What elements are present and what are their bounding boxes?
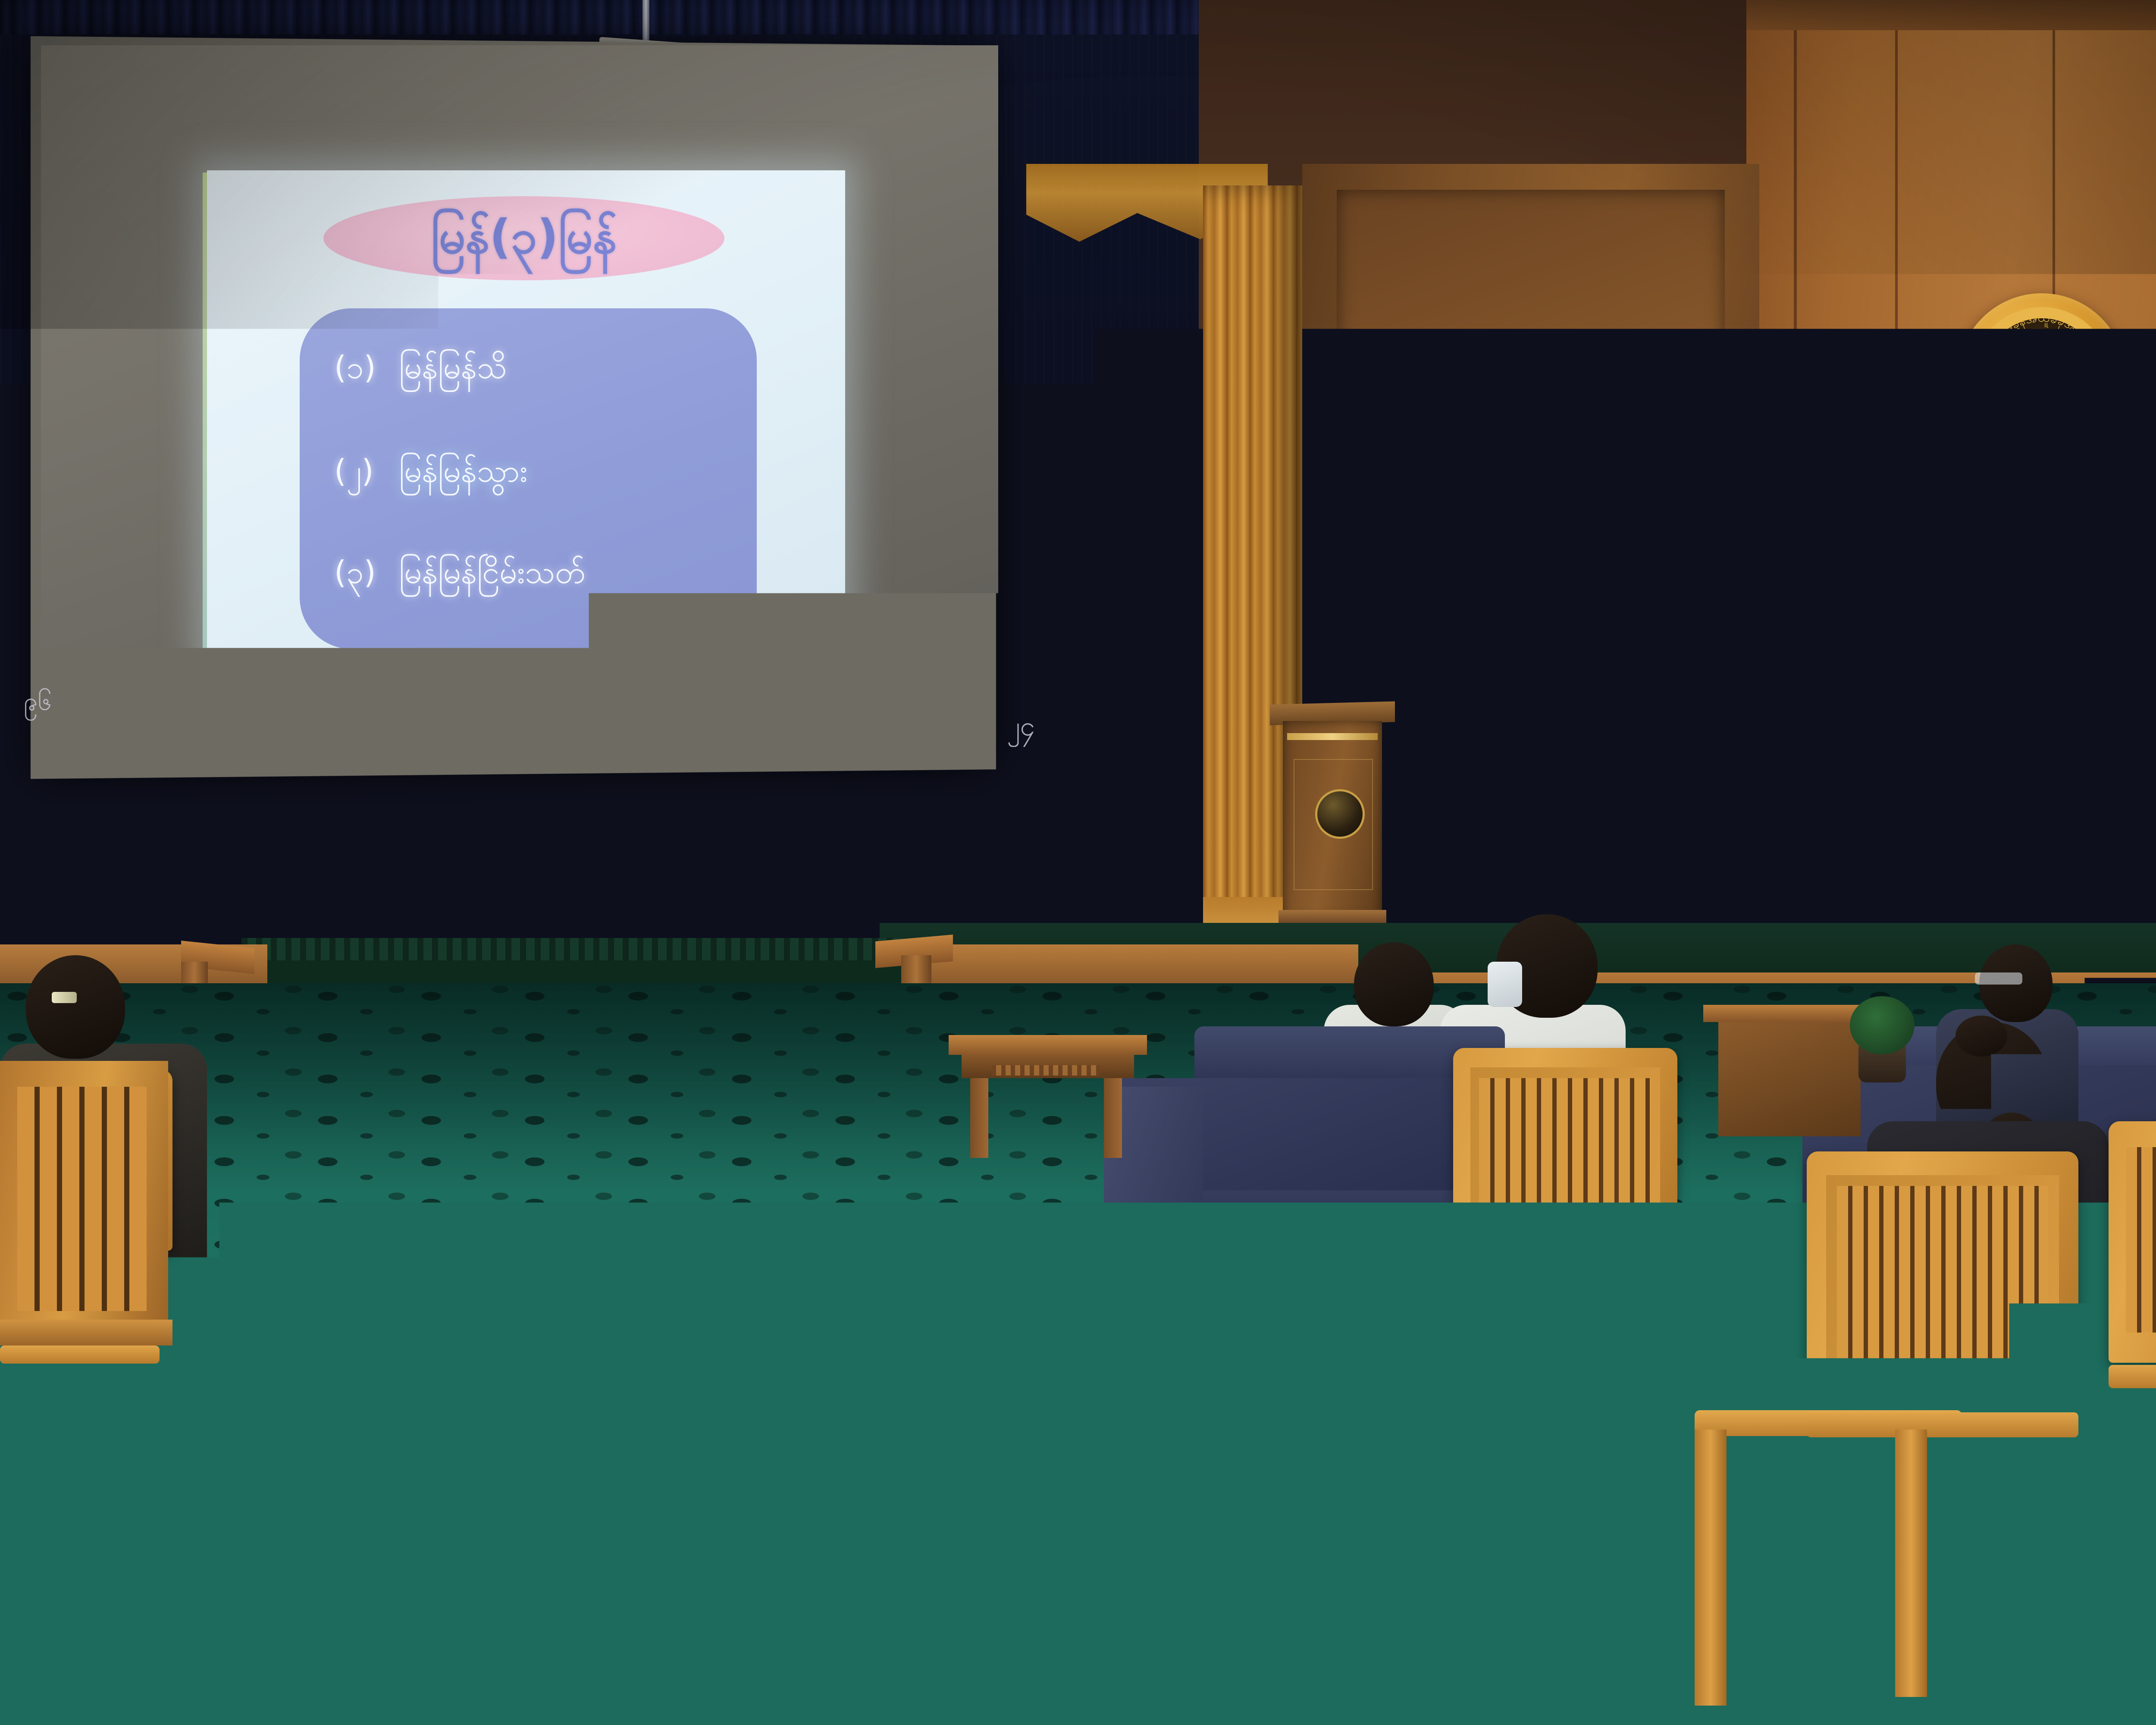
wood-panel-seam <box>1794 0 1797 1044</box>
table-leg <box>970 1076 988 1158</box>
potted-plant-icon <box>1850 996 1915 1054</box>
eyeglasses-icon <box>1975 972 2022 985</box>
chair-leg <box>2048 1540 2081 1703</box>
flag-pole-finial <box>1542 396 1555 406</box>
slide-bullet-2: (၂)မြန်မြန်သွား <box>334 453 748 489</box>
lectern-base <box>1279 910 1386 925</box>
face-mask-icon <box>1488 962 1522 1007</box>
slide-bullet-3-number: (၃) <box>334 554 399 590</box>
chair-lower-rail <box>1807 1516 2078 1540</box>
flag-pole-finial <box>1639 396 1651 406</box>
wood-cornice <box>1746 0 2156 30</box>
speaker-hair <box>1928 758 1991 798</box>
slide-bullet-3: (၃)မြန်မြန်ငြိမ်းသတ် <box>334 554 748 590</box>
step-riser <box>241 960 901 986</box>
slide-bullet-1: (၁)မြန်မြန်သိ <box>334 349 748 386</box>
wooden-side-table <box>949 1035 1147 1055</box>
flag-white-band <box>1436 500 1660 565</box>
chair-leg <box>1535 1386 1564 1528</box>
wooden-low-table <box>1718 1020 1861 1136</box>
flag-pole-finial <box>1512 388 1525 398</box>
scales-of-justice-icon <box>1994 341 2089 412</box>
chair-lower-rail <box>1453 1365 1677 1386</box>
chair-back-slats <box>2126 1147 2156 1333</box>
slide-bullet-1-number: (၁) <box>334 349 399 386</box>
wood-panel-seam <box>2053 0 2055 1044</box>
flag-pole-finial <box>1560 388 1573 398</box>
slide-bullet-3-text: မြန်မြန်ငြိမ်းသတ် <box>399 554 585 590</box>
slide-bullet-1-text: မြန်မြန်သိ <box>399 349 507 386</box>
chair-post <box>1695 1430 1727 1706</box>
chair-leg <box>2122 1423 2152 1621</box>
slide-bullet-2-text: မြန်မြန်သွား <box>399 453 527 489</box>
chair-back-slats <box>1479 1078 1651 1246</box>
chair-leg <box>1949 1540 1982 1712</box>
wooden-low-table-top <box>1703 1005 1876 1022</box>
chair-back-slats <box>1837 1186 2048 1380</box>
conference-hall-photo: မြန်(၃)မြန် (၁)မြန်မြန်သိ (၂)မြန်မြန်သွာ… <box>0 0 2156 1725</box>
myanmar-flag-cluster <box>1445 388 1647 862</box>
presentation-slide: မြန်(၃)မြန် (၁)မြန်မြန်သိ (၂)မြန်မြန်သွာ… <box>207 170 845 675</box>
lectern-gold-band <box>1287 733 1378 740</box>
rank-pip <box>1976 824 1981 829</box>
wooden-pew-body <box>0 1341 142 1725</box>
flag-pole-finial <box>1463 388 1476 398</box>
chair-seat-rail <box>1453 1272 1677 1295</box>
flag-pole-finial <box>1494 396 1507 406</box>
table-leg <box>1104 1076 1122 1158</box>
table-carving <box>992 1065 1100 1076</box>
myanmar-flag-patch-icon <box>1984 856 2013 891</box>
rank-pip <box>1985 824 1990 829</box>
slide-bullet-2-number: (၂) <box>334 453 399 489</box>
chair-post <box>1341 1289 1369 1522</box>
attendee-head <box>26 955 125 1059</box>
chair-front-slats <box>1828 1440 2061 1514</box>
attendee-head <box>1354 942 1434 1026</box>
chair-seat-rail <box>2109 1365 2156 1388</box>
flag-red-band <box>1436 552 1660 681</box>
wall-numeral-right: ၂၄ <box>1007 709 1035 749</box>
hair-bun <box>1955 1016 2007 1057</box>
rank-pip <box>1966 824 1971 829</box>
chair-leg <box>1651 1386 1680 1519</box>
slide-title: မြန်(၃)မြန် <box>323 211 724 263</box>
flag-pole-finial <box>1608 388 1621 398</box>
wall-numeral-left: ၉၆ <box>24 686 52 722</box>
hair-clip-icon <box>52 992 77 1003</box>
chair-seat-rail <box>1807 1412 2078 1437</box>
slide-body-box: (၁)မြန်မြန်သိ (၂)မြန်မြန်သွား (၃)မြန်မြန… <box>300 308 757 649</box>
flag-pole-finial <box>1590 396 1603 406</box>
chair-post <box>1895 1430 1927 1697</box>
step-tread <box>241 938 901 960</box>
chair-front-slats <box>1470 1298 1660 1363</box>
lectern-emblem-icon <box>1315 789 1365 839</box>
pew-back-slats <box>17 1087 147 1311</box>
